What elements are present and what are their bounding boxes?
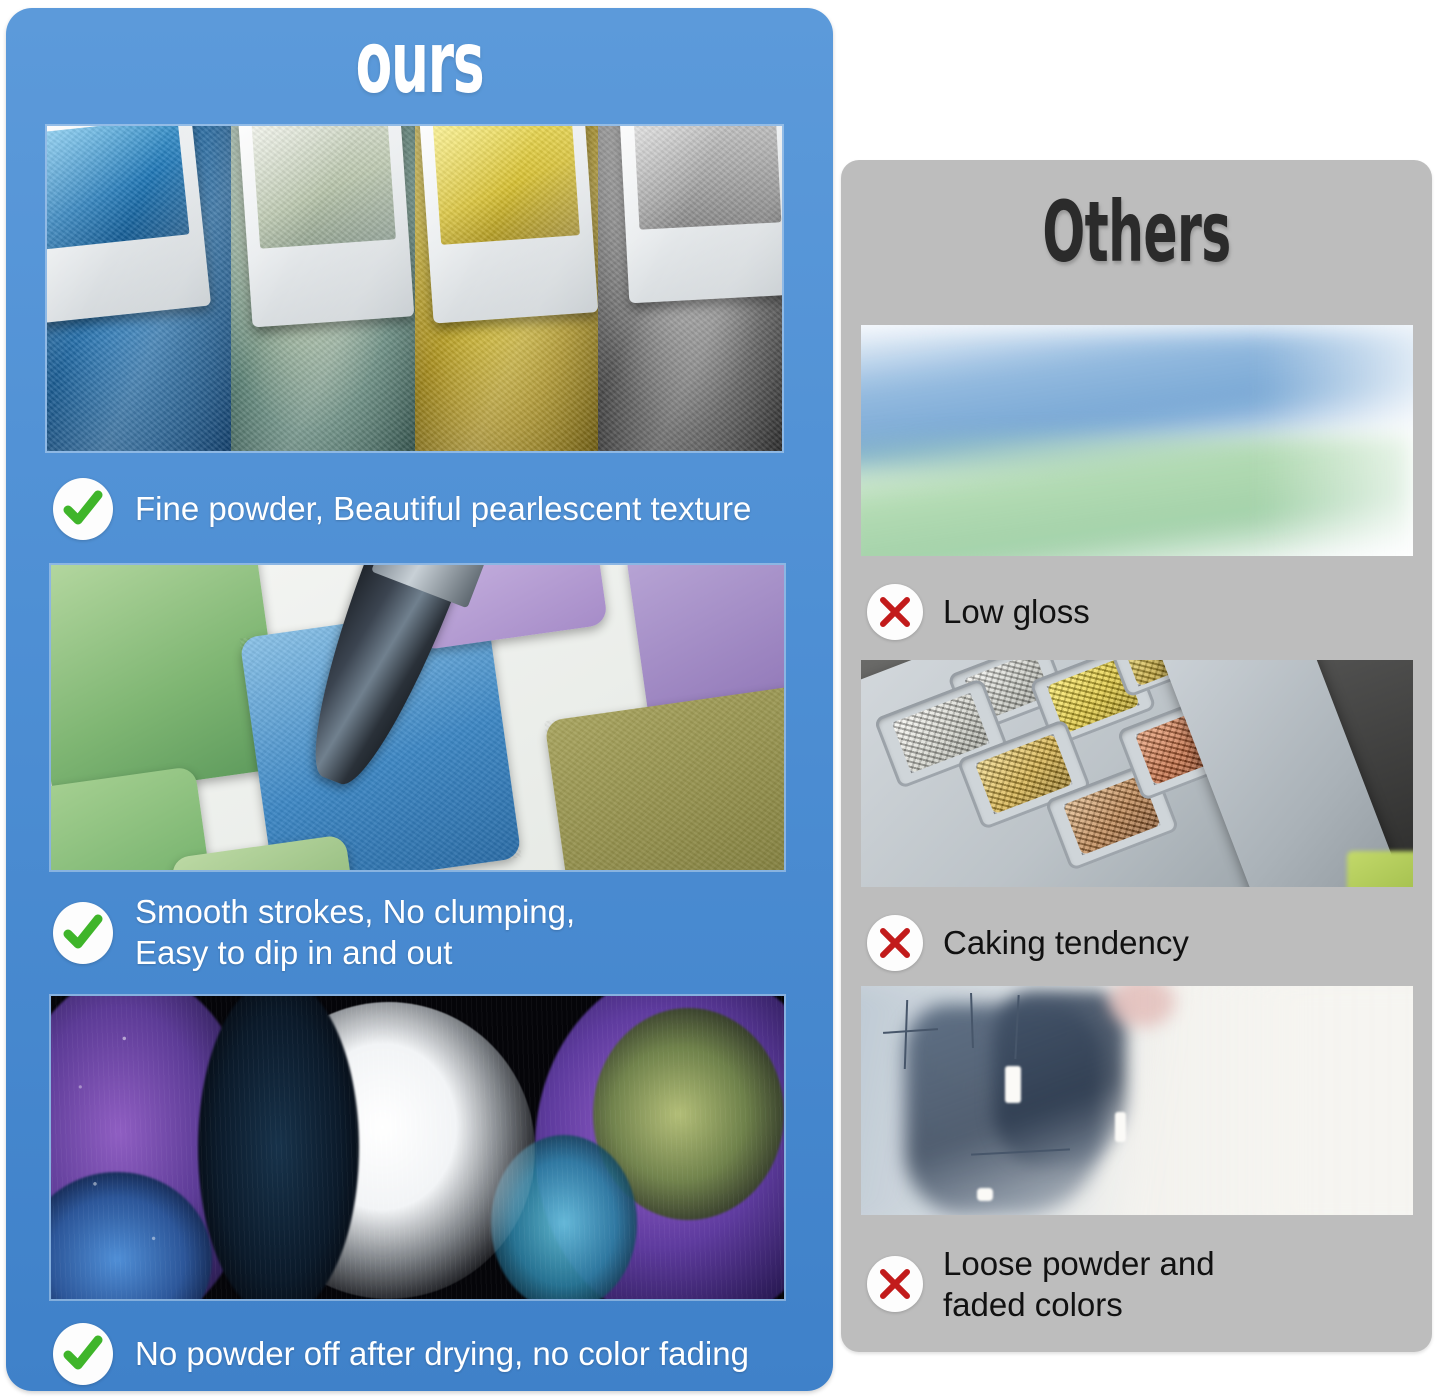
white-gap-3 bbox=[977, 1188, 994, 1202]
ours-feature-label: No powder off after drying, no color fad… bbox=[135, 1334, 749, 1375]
ours-feature-fine-powder: Fine powder, Beautiful pearlescent textu… bbox=[53, 476, 813, 542]
ours-image-palette-brush bbox=[51, 565, 784, 870]
ours-title: ours bbox=[163, 20, 676, 106]
others-feature-label: Loose powder and faded colors bbox=[943, 1243, 1215, 1326]
cross-icon bbox=[867, 915, 923, 971]
pan-strip-silver-green bbox=[231, 126, 415, 451]
ours-feature-no-powder-off: No powder off after drying, no color fad… bbox=[53, 1321, 813, 1387]
sheen-overlay bbox=[415, 126, 599, 451]
wash-edge-fade bbox=[1258, 325, 1413, 556]
others-image-low-gloss-wash bbox=[861, 325, 1413, 556]
others-feature-loose-powder: Loose powder and faded colors bbox=[867, 1238, 1387, 1330]
pan-strip-blue bbox=[47, 126, 231, 451]
check-icon bbox=[53, 478, 113, 540]
others-feature-label: Caking tendency bbox=[943, 922, 1189, 963]
ours-feature-label: Fine powder, Beautiful pearlescent textu… bbox=[135, 489, 751, 530]
ours-image-iridescent-artwork bbox=[51, 996, 784, 1299]
white-gap-1 bbox=[1005, 1066, 1022, 1103]
others-image-caking-palette bbox=[861, 660, 1413, 887]
ours-image-pearlescent-pans bbox=[47, 126, 782, 451]
ours-panel: ours bbox=[6, 8, 833, 1391]
paper-blank-right bbox=[1159, 986, 1413, 1215]
others-feature-low-gloss: Low gloss bbox=[867, 581, 1387, 643]
artwork-canvas bbox=[51, 996, 784, 1299]
green-pan-corner bbox=[1347, 851, 1413, 887]
white-gap-2 bbox=[1115, 1112, 1126, 1142]
others-image-faded-boats bbox=[861, 986, 1413, 1215]
sheen-overlay bbox=[598, 126, 782, 451]
cross-icon bbox=[867, 584, 923, 640]
sheen-overlay bbox=[47, 126, 231, 451]
others-panel: Others Low gloss bbox=[841, 160, 1432, 1352]
comparison-infographic: ours bbox=[0, 0, 1445, 1397]
watercolor-paper bbox=[861, 986, 1413, 1215]
iridescent-speckle bbox=[51, 996, 784, 1299]
watercolor-paper bbox=[861, 325, 1413, 556]
check-icon bbox=[53, 902, 113, 964]
pan-strip-graphite bbox=[598, 126, 782, 451]
others-feature-label: Low gloss bbox=[943, 591, 1090, 632]
sheen-overlay bbox=[231, 126, 415, 451]
ours-feature-label: Smooth strokes, No clumping, Easy to dip… bbox=[135, 892, 575, 973]
pan-strip-gold bbox=[415, 126, 599, 451]
others-title: Others bbox=[959, 190, 1314, 274]
ours-feature-smooth-strokes: Smooth strokes, No clumping, Easy to dip… bbox=[53, 888, 813, 978]
check-icon bbox=[53, 1323, 113, 1385]
cross-icon bbox=[867, 1256, 923, 1312]
others-feature-caking-tendency: Caking tendency bbox=[867, 912, 1387, 974]
